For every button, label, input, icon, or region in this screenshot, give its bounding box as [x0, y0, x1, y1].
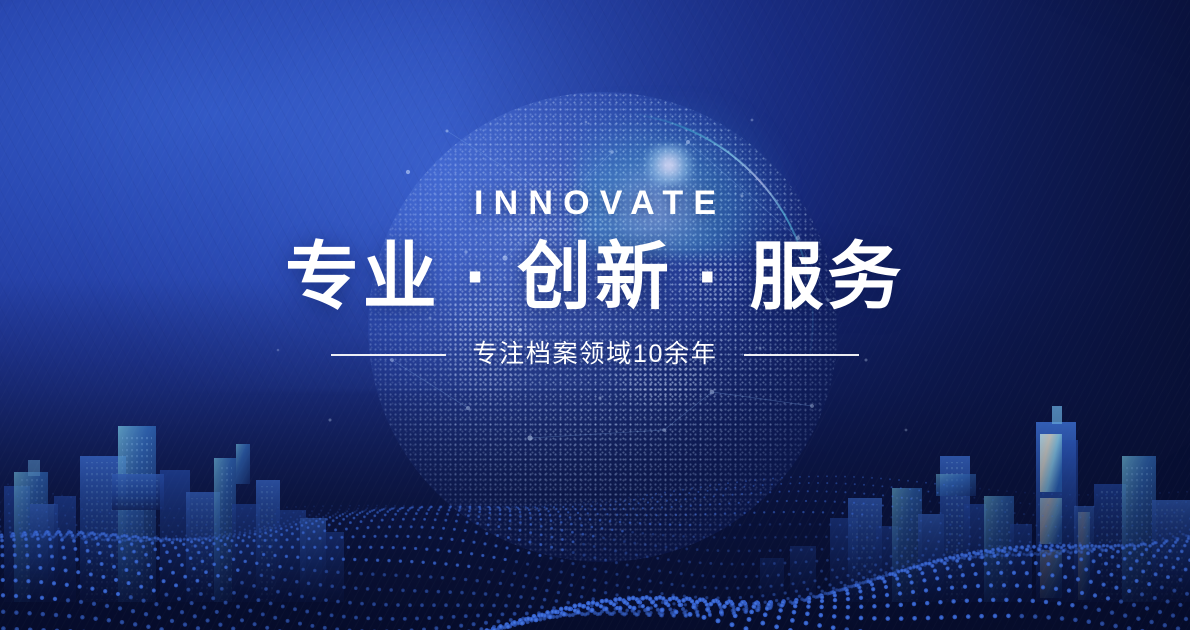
city-skyline: [0, 400, 1190, 630]
eyebrow-text: INNOVATE: [0, 186, 1190, 220]
banner-copy: INNOVATE 专业 · 创新 · 服务 专注档案领域10余年: [0, 186, 1190, 367]
subtitle-text: 专注档案领域10余年: [472, 342, 717, 367]
hero-banner: INNOVATE 专业 · 创新 · 服务 专注档案领域10余年: [0, 0, 1190, 630]
subtitle-row: 专注档案领域10余年: [0, 342, 1190, 367]
page-title: 专业 · 创新 · 服务: [0, 238, 1190, 316]
right-rule-divider: [744, 354, 859, 356]
left-rule-divider: [331, 354, 446, 356]
